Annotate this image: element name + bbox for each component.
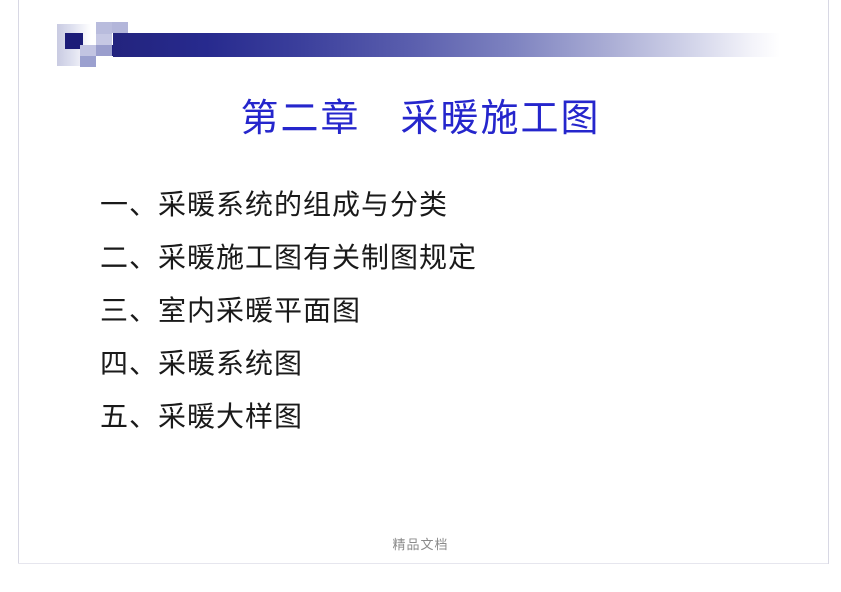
list-item: 四、采暖系统图 [100,349,740,380]
page-border-right [828,0,829,564]
page-border-left [18,0,19,564]
header-decoration [0,0,841,80]
mosaic-square-top-light-icon [96,22,112,34]
footer-watermark: 精品文档 [0,534,841,553]
list-item: 三、室内采暖平面图 [100,296,740,327]
agenda-list: 一、采暖系统的组成与分类 二、采暖施工图有关制图规定 三、室内采暖平面图 四、采… [100,190,740,455]
mosaic-square-right-top-icon [112,22,128,33]
mosaic-square-mid-medium-icon [96,45,112,56]
list-item: 一、采暖系统的组成与分类 [100,190,740,221]
page-border-bottom [18,563,828,564]
slide-title: 第二章 采暖施工图 [0,96,841,142]
list-item: 二、采暖施工图有关制图规定 [100,243,740,274]
mosaic-square-mid-light-icon [96,34,112,45]
list-item: 五、采暖大样图 [100,402,740,433]
mosaic-square-low-light-icon [80,45,96,56]
mosaic-square-bottom-icon [80,56,96,67]
header-gradient-bar [113,33,780,57]
presentation-slide: 第二章 采暖施工图 一、采暖系统的组成与分类 二、采暖施工图有关制图规定 三、室… [0,0,841,592]
